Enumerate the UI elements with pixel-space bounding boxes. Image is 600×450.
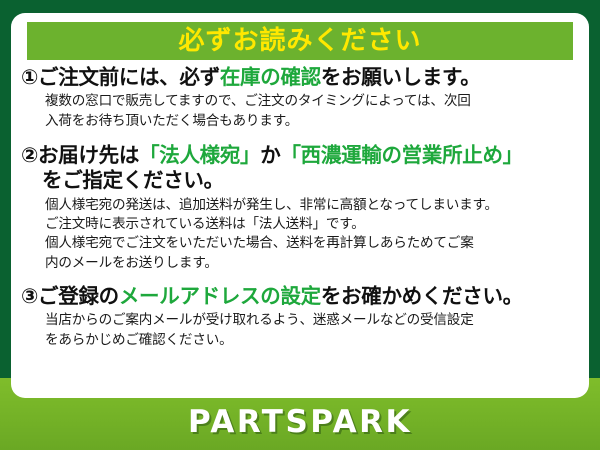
notice-item-1: ①ご注文前には、必ず在庫の確認をお願いします。 複数の窓口で販売してますので、ご…	[21, 65, 581, 131]
notice-item-1-heading-part-3: をお願いします。	[321, 65, 481, 89]
notice-item-1-heading-highlight: 在庫の確認	[220, 65, 321, 89]
notice-item-1-body: 複数の窓口で販売してますので、ご注文のタイミングによっては、次回 入荷をお待ち頂…	[45, 92, 581, 131]
brand-logo: PARTSPARK	[0, 407, 600, 438]
notice-header-bar: 必ずお読みください	[27, 22, 573, 60]
notice-item-2-heading-part-3: か	[260, 143, 280, 167]
notice-header-title: 必ずお読みください	[178, 28, 421, 54]
notice-item-1-heading: ①ご注文前には、必ず在庫の確認をお願いします。	[21, 65, 581, 90]
notice-item-2: ②お届け先は「法人様宛」か「西濃運輸の営業所止め」 をご指定ください。 個人様宅…	[21, 143, 581, 273]
notice-item-3-body-line-2: をあらかじめご確認ください。	[45, 331, 581, 350]
notice-item-2-body: 個人様宅宛の発送は、追加送料が発生し、非常に高額となってしまいます。 ご注文時に…	[45, 196, 581, 273]
notice-item-3-heading: ③ご登録のメールアドレスの設定をお確かめください。	[21, 284, 581, 309]
notice-item-3-body-line-1: 当店からのご案内メールが受け取れるよう、迷惑メールなどの受信設定	[45, 311, 581, 330]
notice-panel: 必ずお読みください ①ご注文前には、必ず在庫の確認をお願いします。 複数の窓口で…	[11, 13, 589, 398]
notice-item-2-heading-highlight-2: 「西濃運輸の営業所止め」	[280, 143, 522, 167]
notice-banner: 必ずお読みください ①ご注文前には、必ず在庫の確認をお願いします。 複数の窓口で…	[0, 0, 600, 450]
notice-item-2-body-line-4: 内のメールをお送りします。	[45, 254, 581, 273]
notice-item-1-heading-part-1: ①ご注文前には、必ず	[21, 65, 220, 89]
notice-content: ①ご注文前には、必ず在庫の確認をお願いします。 複数の窓口で販売してますので、ご…	[11, 65, 589, 353]
notice-item-2-body-line-2: ご注文時に表示されている送料は「法人送料」です。	[45, 215, 581, 234]
notice-item-3-heading-part-3: をお確かめください。	[321, 284, 523, 308]
notice-item-3-heading-highlight: メールアドレスの設定	[119, 284, 321, 308]
notice-item-3-body: 当店からのご案内メールが受け取れるよう、迷惑メールなどの受信設定 をあらかじめご…	[45, 311, 581, 350]
notice-item-2-body-line-1: 個人様宅宛の発送は、追加送料が発生し、非常に高額となってしまいます。	[45, 196, 581, 215]
notice-item-3-heading-part-1: ③ご登録の	[21, 284, 119, 308]
notice-item-1-body-line-1: 複数の窓口で販売してますので、ご注文のタイミングによっては、次回	[45, 92, 581, 111]
notice-item-2-heading-part-1: ②お届け先は	[21, 143, 139, 167]
notice-item-2-body-line-3: 個人様宅宛でご注文をいただいた場合、送料を再計算しあらためてご案	[45, 234, 581, 253]
notice-item-3: ③ご登録のメールアドレスの設定をお確かめください。 当店からのご案内メールが受け…	[21, 284, 581, 350]
notice-item-1-body-line-2: 入荷をお待ち頂いただく場合もあります。	[45, 112, 581, 131]
notice-item-2-heading-line-2: をご指定ください。	[21, 168, 581, 193]
notice-item-2-heading: ②お届け先は「法人様宛」か「西濃運輸の営業所止め」 をご指定ください。	[21, 143, 581, 194]
notice-item-2-heading-highlight-1: 「法人様宛」	[139, 143, 260, 167]
